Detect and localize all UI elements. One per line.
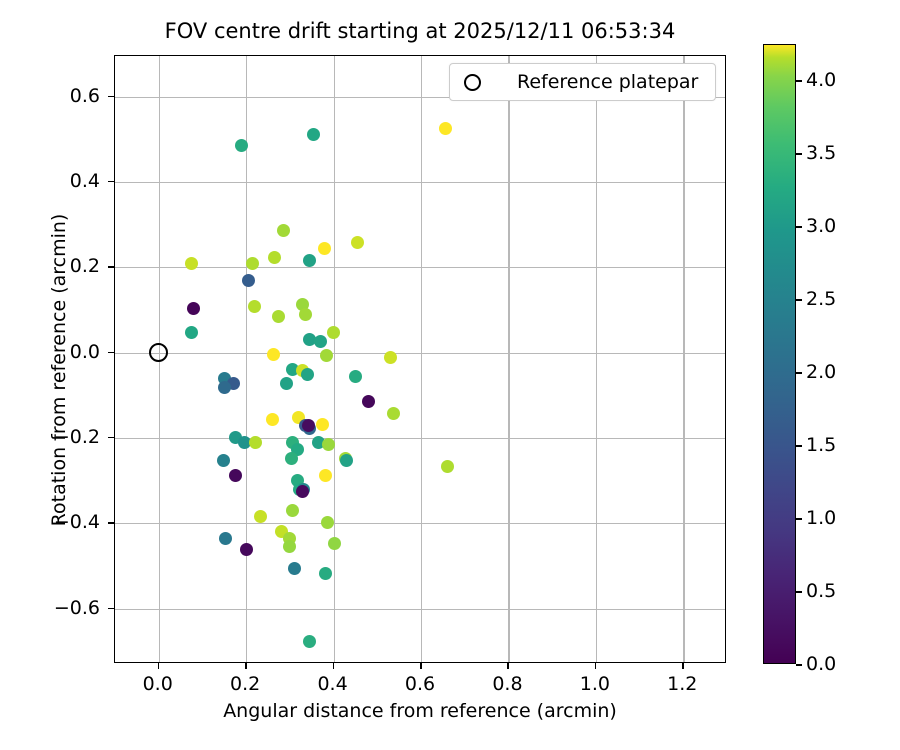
gridline-horizontal (115, 353, 725, 354)
gridline-vertical (508, 56, 509, 662)
gridline-horizontal (115, 438, 725, 439)
x-axis-tick-label: 0.0 (118, 673, 198, 695)
colorbar-tick (796, 226, 802, 228)
scatter-point (301, 368, 314, 381)
scatter-point (254, 510, 267, 523)
colorbar-tick-label: 1.0 (806, 507, 836, 529)
x-axis-tick (682, 663, 684, 669)
scatter-point (316, 418, 329, 431)
scatter-point (267, 348, 280, 361)
scatter-point (387, 407, 400, 420)
gridline-vertical (596, 56, 597, 662)
scatter-point (318, 242, 331, 255)
gridline-horizontal (115, 182, 725, 183)
y-axis-tick-label: 0.6 (20, 85, 100, 107)
scatter-point (321, 516, 334, 529)
legend: Reference platepar (449, 63, 716, 101)
scatter-point (185, 326, 198, 339)
scatter-point (242, 274, 255, 287)
x-axis-tick-label: 1.2 (642, 673, 722, 695)
scatter-point (249, 436, 262, 449)
x-axis-tick (420, 663, 422, 669)
scatter-point (351, 236, 364, 249)
colorbar-tick-label: 1.5 (806, 434, 836, 456)
scatter-point (280, 377, 293, 390)
scatter-point (286, 504, 299, 517)
x-axis-tick-label: 0.2 (205, 673, 285, 695)
scatter-point (277, 224, 290, 237)
chart-title: FOV centre drift starting at 2025/12/11 … (114, 18, 726, 44)
scatter-point (303, 254, 316, 267)
scatter-point (248, 300, 261, 313)
scatter-point (303, 635, 316, 648)
y-axis-tick (108, 181, 114, 183)
scatter-point (322, 438, 335, 451)
x-axis-tick (595, 663, 597, 669)
scatter-point (218, 381, 231, 394)
scatter-point (285, 452, 298, 465)
colorbar-tick (796, 372, 802, 374)
gridline-vertical (334, 56, 335, 662)
scatter-point (320, 349, 333, 362)
y-axis-tick (108, 608, 114, 610)
scatter-point (217, 454, 230, 467)
y-axis-tick-label: −0.6 (20, 597, 100, 619)
colorbar-tick-label: 4.0 (806, 69, 836, 91)
scatter-point (319, 469, 332, 482)
colorbar: 0.00.51.01.52.02.53.03.54.0 (763, 44, 796, 664)
scatter-point (229, 469, 242, 482)
colorbar-tick (796, 664, 802, 666)
y-axis-tick (108, 96, 114, 98)
x-axis-tick (507, 663, 509, 669)
scatter-point (441, 460, 454, 473)
colorbar-tick-label: 2.5 (806, 288, 836, 310)
y-axis-tick (108, 352, 114, 354)
colorbar-tick (796, 445, 802, 447)
scatter-point (266, 413, 279, 426)
figure-container: FOV centre drift starting at 2025/12/11 … (0, 0, 900, 750)
scatter-point (327, 326, 340, 339)
scatter-point (307, 128, 320, 141)
x-axis-tick (158, 663, 160, 669)
colorbar-tick-label: 2.0 (806, 361, 836, 383)
x-axis-label: Angular distance from reference (arcmin) (114, 700, 726, 722)
scatter-point (240, 543, 253, 556)
scatter-point (272, 310, 285, 323)
colorbar-tick-label: 3.5 (806, 142, 836, 164)
scatter-point (288, 562, 301, 575)
scatter-point (384, 351, 397, 364)
colorbar-tick-label: 3.0 (806, 215, 836, 237)
colorbar-tick (796, 591, 802, 593)
scatter-point (268, 251, 281, 264)
scatter-point (439, 122, 452, 135)
scatter-point (283, 540, 296, 553)
colorbar-tick (796, 153, 802, 155)
gridline-vertical (421, 56, 422, 662)
colorbar-tick-label: 0.5 (806, 580, 836, 602)
reference-platepar-marker-icon (464, 74, 481, 91)
scatter-point (328, 537, 341, 550)
y-axis-tick (108, 437, 114, 439)
gridline-vertical (683, 56, 684, 662)
gridline-horizontal (115, 523, 725, 524)
scatter-point (340, 454, 353, 467)
colorbar-gradient (763, 44, 796, 664)
gridline-horizontal (115, 267, 725, 268)
gridline-horizontal (115, 609, 725, 610)
colorbar-tick (796, 80, 802, 82)
colorbar-tick (796, 299, 802, 301)
x-axis-tick-label: 0.6 (380, 673, 460, 695)
x-axis-tick-label: 1.0 (555, 673, 635, 695)
x-axis-tick (245, 663, 247, 669)
plot-area (114, 55, 726, 663)
colorbar-tick (796, 518, 802, 520)
scatter-point (362, 395, 375, 408)
scatter-point (296, 485, 309, 498)
legend-entry-label: Reference platepar (517, 71, 698, 93)
x-axis-tick (333, 663, 335, 669)
x-axis-tick-label: 0.4 (293, 673, 373, 695)
x-axis-tick-label: 0.8 (467, 673, 547, 695)
scatter-point (319, 567, 332, 580)
reference-platepar-point (149, 343, 168, 362)
scatter-point (314, 335, 327, 348)
scatter-point (219, 532, 232, 545)
y-axis-tick (108, 522, 114, 524)
scatter-point (299, 308, 312, 321)
y-axis-tick (108, 266, 114, 268)
scatter-point (187, 302, 200, 315)
scatter-point (349, 370, 362, 383)
y-axis-label: Rotation from reference (arcmin) (48, 170, 70, 570)
colorbar-tick-label: 0.0 (806, 653, 836, 675)
